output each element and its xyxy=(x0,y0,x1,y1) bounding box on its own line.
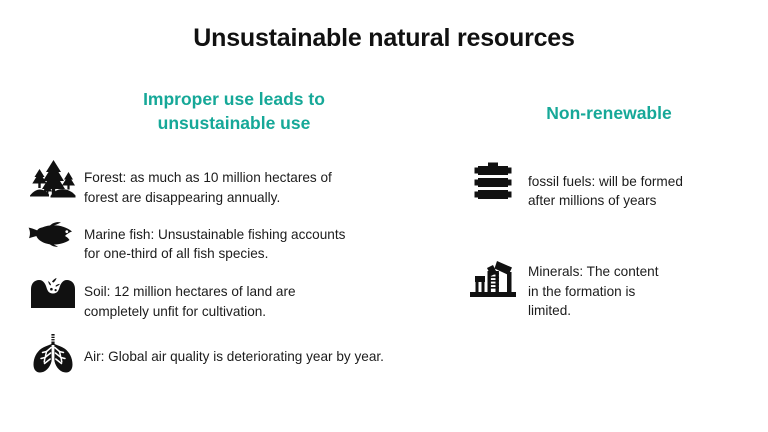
list-item-text: fossil fuels: will be formed after milli… xyxy=(528,162,768,211)
right-column: Non-renewable xyxy=(440,80,768,432)
item-text-line-3: limited. xyxy=(528,301,768,320)
oil-barrel-icon xyxy=(458,162,528,206)
lungs-icon xyxy=(22,333,84,375)
list-item: Soil: 12 million hectares of land are co… xyxy=(22,277,440,321)
left-heading-line-2: unsustainable use xyxy=(158,113,311,133)
soil-seedling-icon xyxy=(22,277,84,311)
item-text-line-1: Soil: 12 million hectares of land are xyxy=(84,282,440,301)
left-column-heading: Improper use leads to unsustainable use xyxy=(84,88,384,135)
right-column-heading: Non-renewable xyxy=(464,102,754,126)
item-text-line-1: Air: Global air quality is deteriorating… xyxy=(84,347,440,366)
list-item-text: Marine fish: Unsustainable fishing accou… xyxy=(84,221,440,264)
list-item-text: Minerals: The content in the formation i… xyxy=(528,258,768,320)
forest-trees-icon xyxy=(22,158,84,202)
list-item: Marine fish: Unsustainable fishing accou… xyxy=(22,221,440,264)
columns-container: Improper use leads to unsustainable use xyxy=(0,80,768,432)
item-text-line-1: Marine fish: Unsustainable fishing accou… xyxy=(84,225,440,244)
item-text-line-2: for one-third of all fish species. xyxy=(84,244,440,263)
list-item: fossil fuels: will be formed after milli… xyxy=(458,162,768,211)
left-column-list: Forest: as much as 10 million hectares o… xyxy=(22,158,440,375)
list-item: Air: Global air quality is deteriorating… xyxy=(22,333,440,375)
item-text-line-2: in the formation is xyxy=(528,282,768,301)
oil-pumpjack-icon xyxy=(458,258,528,300)
right-column-list: fossil fuels: will be formed after milli… xyxy=(458,162,768,320)
page-title: Unsustainable natural resources xyxy=(0,24,768,53)
left-heading-line-1: Improper use leads to xyxy=(143,89,325,109)
item-text-line-1: fossil fuels: will be formed xyxy=(528,172,768,191)
list-item-text: Soil: 12 million hectares of land are co… xyxy=(84,277,440,321)
item-text-line-1: Forest: as much as 10 million hectares o… xyxy=(84,168,440,187)
item-text-line-2: completely unfit for cultivation. xyxy=(84,302,440,321)
left-column: Improper use leads to unsustainable use xyxy=(0,80,440,432)
list-item-text: Forest: as much as 10 million hectares o… xyxy=(84,158,440,207)
item-text-line-1: Minerals: The content xyxy=(528,262,768,281)
fish-icon xyxy=(22,221,84,251)
item-text-line-2: after millions of years xyxy=(528,191,768,210)
list-item: Forest: as much as 10 million hectares o… xyxy=(22,158,440,207)
list-item: Minerals: The content in the formation i… xyxy=(458,258,768,320)
list-item-text: Air: Global air quality is deteriorating… xyxy=(84,333,440,366)
slide-canvas: Unsustainable natural resources Improper… xyxy=(0,0,768,432)
item-text-line-2: forest are disappearing annually. xyxy=(84,188,440,207)
